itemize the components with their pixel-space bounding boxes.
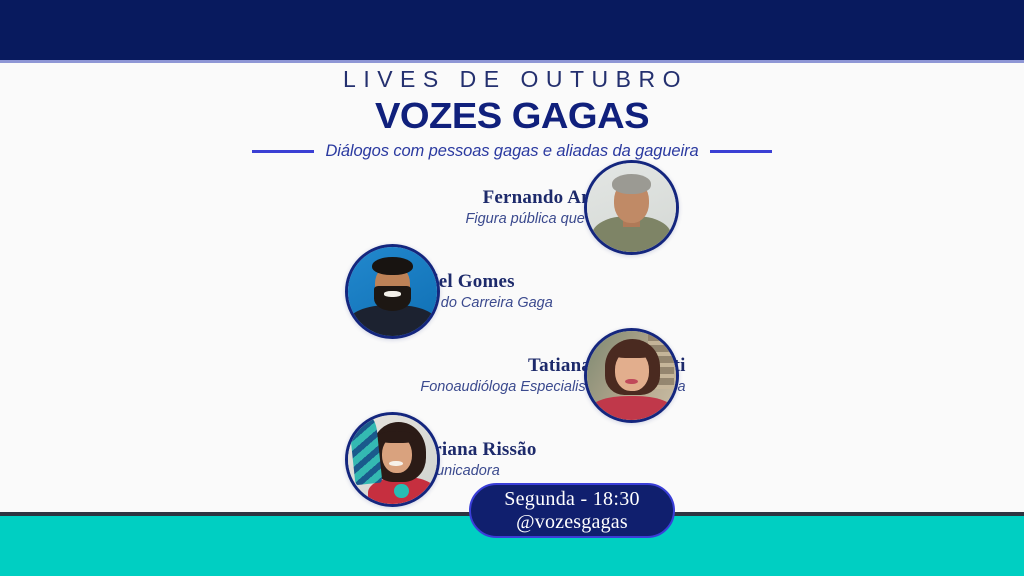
top-band [0,0,1024,60]
event-title: VOZES GAGAS [0,96,1024,136]
event-kicker: LIVES DE OUTUBRO [0,64,1024,94]
poster-canvas: LIVES DE OUTUBRO VOZES GAGAS Diálogos co… [0,0,1024,576]
avatar-fernando-andrade [584,160,679,255]
speaker-row: Fernando Andrade Figura pública que gagu… [0,165,1024,249]
top-band-accent-line [0,60,1024,63]
social-handle: @vozesgagas [516,511,628,534]
speaker-row: Gabriel Gomes Criador do Carreira Gaga [0,249,1024,333]
event-tagline: Diálogos com pessoas gagas e aliadas da … [325,142,698,161]
avatar-mariana-rissao [345,412,440,507]
rule-left-icon [252,150,314,153]
schedule-time: Segunda - 18:30 [504,488,640,511]
avatar-tatiana-cavalcanti [584,328,679,423]
rule-right-icon [710,150,772,153]
speaker-row: Tatiana Cavalcanti Fonoaudióloga Especia… [0,333,1024,417]
poster-header: LIVES DE OUTUBRO VOZES GAGAS Diálogos co… [0,64,1024,161]
speaker-list: Fernando Andrade Figura pública que gagu… [0,165,1024,501]
avatar-gabriel-gomes [345,244,440,339]
schedule-badge: Segunda - 18:30 @vozesgagas [469,483,675,538]
tagline-row: Diálogos com pessoas gagas e aliadas da … [0,142,1024,161]
